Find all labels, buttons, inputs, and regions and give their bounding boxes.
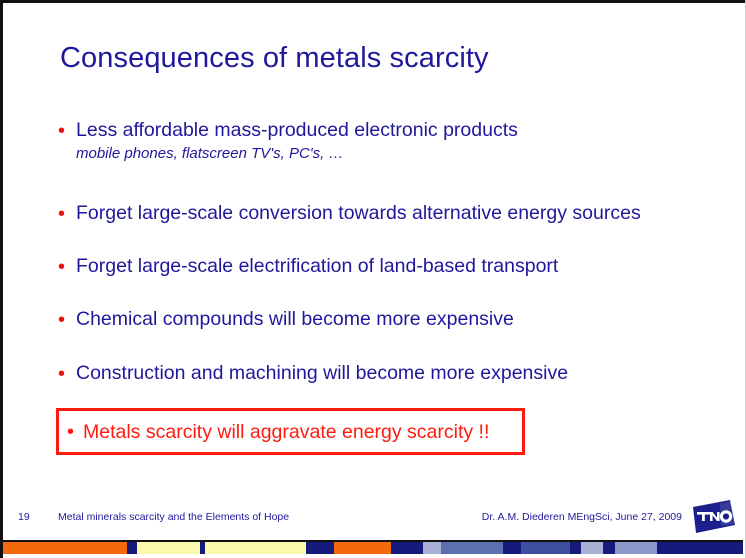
colorbar-segment-8: [423, 542, 442, 554]
bullet-text: Forget large-scale electrification of la…: [76, 254, 558, 278]
slide-canvas: Consequences of metals scarcity • Less a…: [0, 0, 746, 558]
bullet-text: Chemical compounds will become more expe…: [76, 307, 514, 331]
colorbar-segment-14: [581, 542, 603, 554]
colorbar-segment-5: [306, 542, 334, 554]
colorbar-segment-9: [441, 542, 450, 554]
colorbar-segment-1: [127, 542, 136, 554]
bullet-dot-icon: •: [58, 307, 76, 332]
footer-author-text: Dr. A.M. Diederen MEngSci, June 27, 2009: [482, 511, 682, 523]
slide-border-left: [0, 0, 3, 558]
bullet-text: Forget large-scale conversion towards al…: [76, 201, 641, 225]
bullet-block-4: • Chemical compounds will become more ex…: [58, 307, 514, 332]
bullet-dot-icon: •: [58, 361, 76, 386]
bullet-block-2: • Forget large-scale conversion towards …: [58, 201, 641, 226]
colorbar-segment-2: [137, 542, 201, 554]
bullet-subtext: mobile phones, flatscreen TV's, PC's, …: [76, 143, 518, 164]
bullet-block-3: • Forget large-scale electrification of …: [58, 254, 558, 279]
page-number: 19: [18, 511, 30, 523]
colorbar-segment-16: [615, 542, 657, 554]
bullet-text: Less affordable mass-produced electronic…: [76, 118, 518, 142]
slide-title: Consequences of metals scarcity: [60, 41, 489, 75]
list-item: • Forget large-scale electrification of …: [58, 254, 558, 279]
colorbar-segment-15: [603, 542, 615, 554]
decorative-colorbar: [3, 542, 743, 554]
colorbar-segment-6: [334, 542, 391, 554]
list-item: • Less affordable mass-produced electron…: [58, 118, 518, 143]
list-item: • Forget large-scale conversion towards …: [58, 201, 641, 226]
bullet-block-5: • Construction and machining will become…: [58, 361, 568, 386]
colorbar-segment-13: [570, 542, 581, 554]
tno-logo: [690, 500, 736, 534]
colorbar-segment-7: [391, 542, 423, 554]
bullet-text: Construction and machining will become m…: [76, 361, 568, 385]
colorbar-segment-17: [657, 542, 743, 554]
bullet-dot-icon: •: [58, 254, 76, 279]
highlight-callout-box: • Metals scarcity will aggravate energy …: [56, 408, 525, 455]
bullet-block-1: • Less affordable mass-produced electron…: [58, 118, 518, 164]
highlight-content: • Metals scarcity will aggravate energy …: [59, 411, 522, 452]
footer-title-text: Metal minerals scarcity and the Elements…: [58, 511, 289, 523]
colorbar-segment-0: [3, 542, 127, 554]
bullet-dot-icon: •: [67, 422, 83, 442]
colorbar-segment-4: [205, 542, 306, 554]
highlight-text: Metals scarcity will aggravate energy sc…: [83, 421, 489, 443]
colorbar-segment-10: [451, 542, 504, 554]
colorbar-segment-11: [503, 542, 520, 554]
list-item: • Construction and machining will become…: [58, 361, 568, 386]
slide-footer: 19 Metal minerals scarcity and the Eleme…: [0, 507, 746, 531]
list-item: • Chemical compounds will become more ex…: [58, 307, 514, 332]
bullet-dot-icon: •: [58, 201, 76, 226]
bullet-dot-icon: •: [58, 118, 76, 143]
colorbar-segment-12: [521, 542, 571, 554]
slide-border-top: [0, 0, 746, 3]
